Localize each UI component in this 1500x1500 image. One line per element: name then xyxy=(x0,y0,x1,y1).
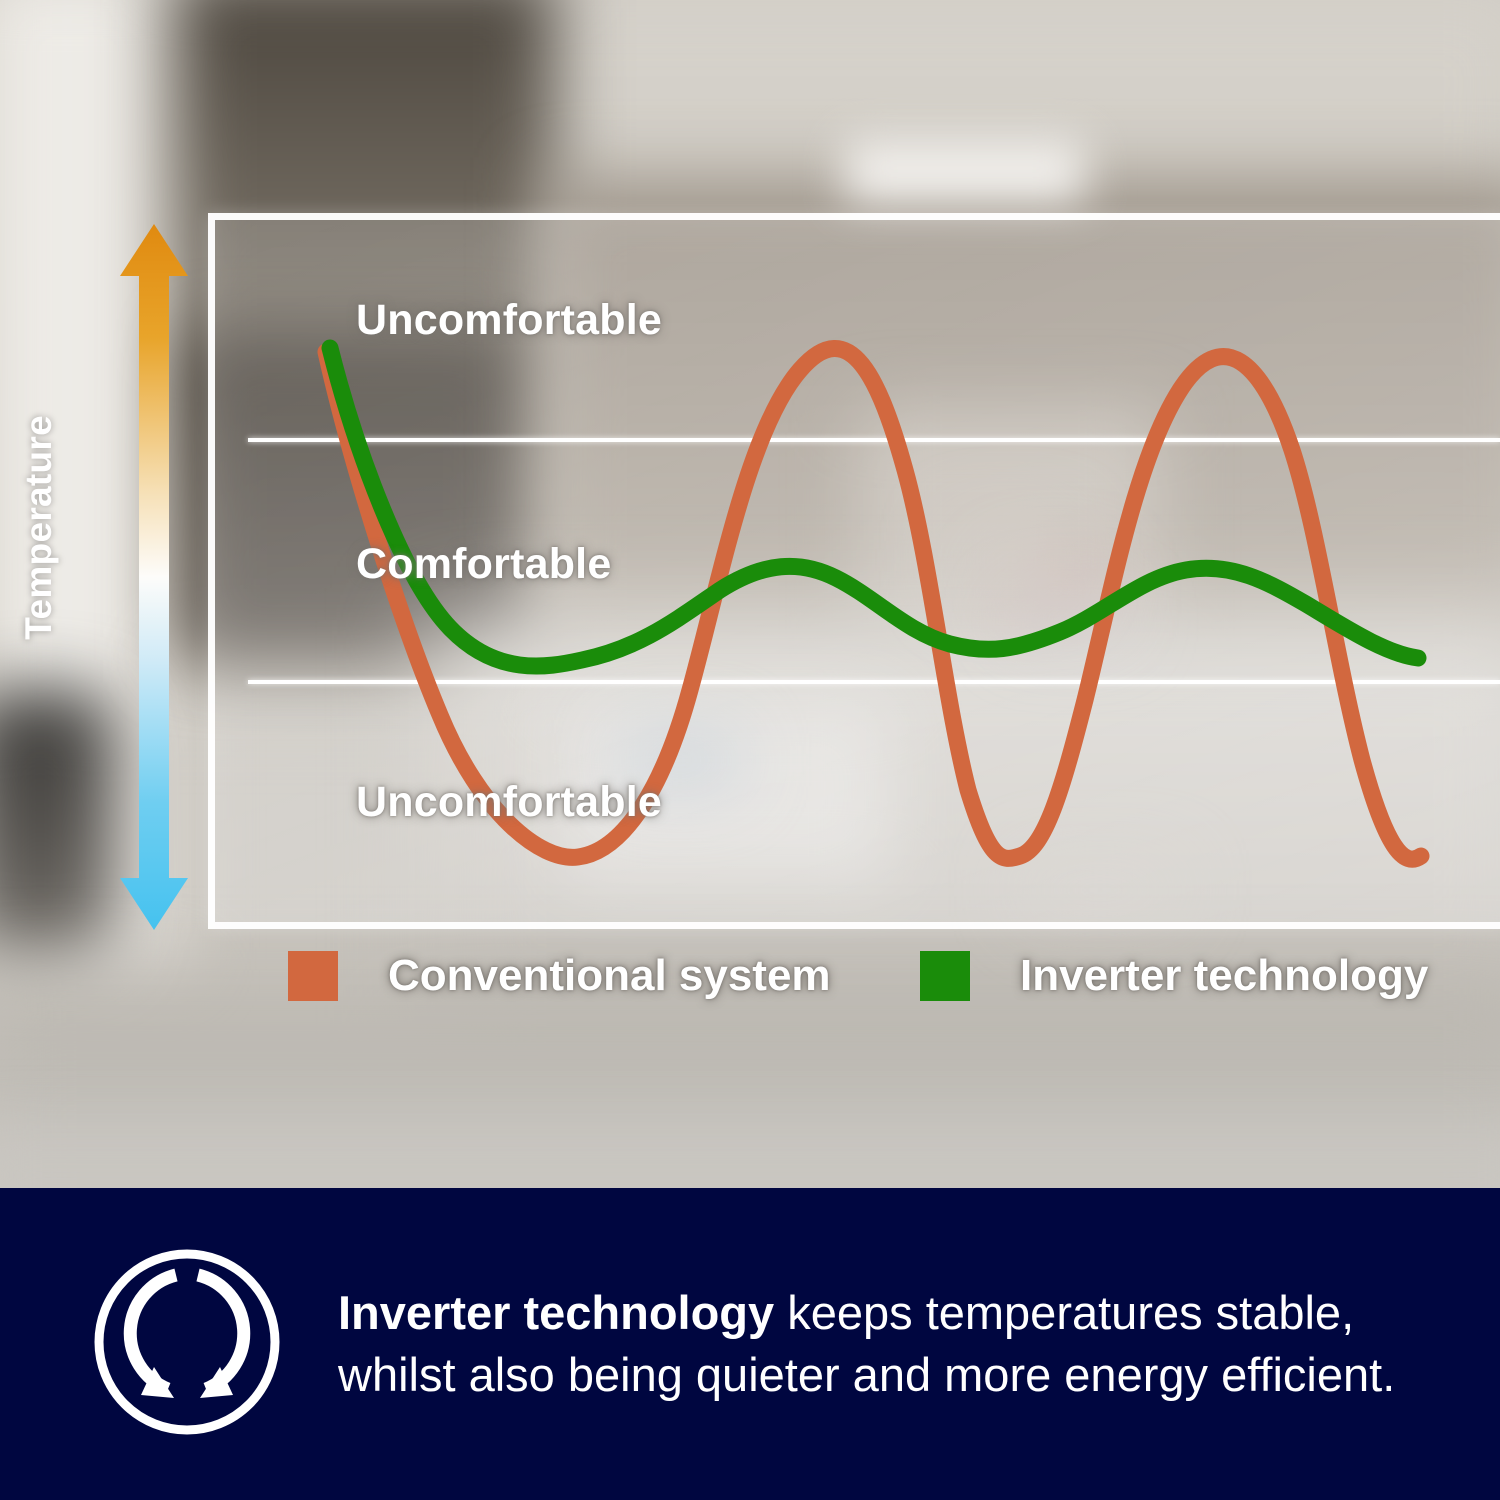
gridline-lower xyxy=(248,680,1500,684)
banner-text-bold: Inverter technology xyxy=(338,1286,774,1339)
legend-label-inverter: Inverter technology xyxy=(1020,951,1428,1001)
y-axis-label: Temperature xyxy=(18,415,60,640)
gridline-upper xyxy=(248,438,1500,442)
legend-swatch-conventional xyxy=(288,951,338,1001)
legend-label-conventional: Conventional system xyxy=(388,951,831,1001)
promo-image: Temperature Uncomfortable Comfortable Un… xyxy=(0,0,1500,1500)
chart-legend: Conventional system Inverter technology xyxy=(208,948,1500,1004)
bottom-banner: Inverter technology keeps temperatures s… xyxy=(0,1188,1500,1500)
banner-text: Inverter technology keeps temperatures s… xyxy=(338,1282,1438,1407)
band-label-uncomfortable-hot: Uncomfortable xyxy=(356,296,662,345)
temperature-gradient-arrow xyxy=(118,222,190,932)
band-label-comfortable: Comfortable xyxy=(356,540,611,589)
band-label-uncomfortable-cold: Uncomfortable xyxy=(356,778,662,827)
circular-arrows-icon xyxy=(88,1243,286,1446)
legend-swatch-inverter xyxy=(920,951,970,1001)
legend-item-conventional-system[interactable]: Conventional system xyxy=(288,948,831,1004)
legend-item-inverter-technology[interactable]: Inverter technology xyxy=(920,948,1428,1004)
